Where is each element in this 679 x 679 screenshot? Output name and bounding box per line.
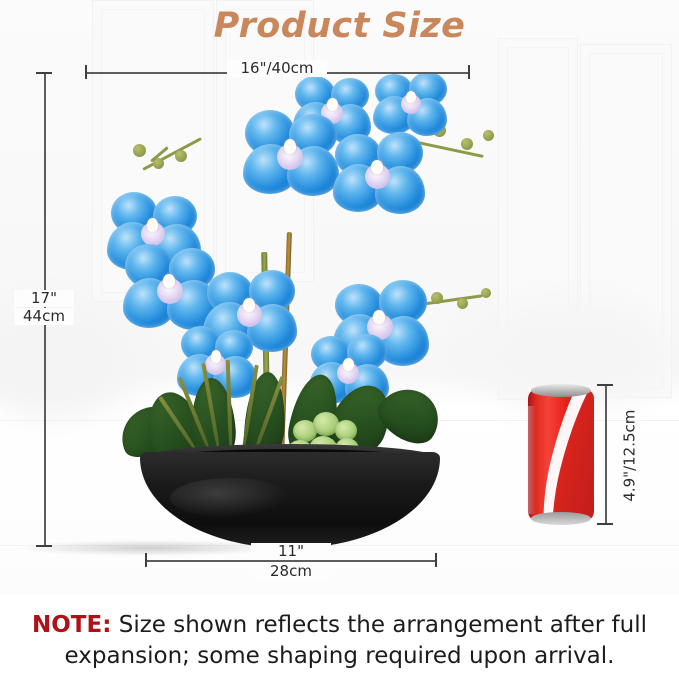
bud <box>461 138 473 150</box>
dimension-cap-left-top <box>36 72 52 74</box>
dimension-cap-left-bottom <box>36 545 52 547</box>
can-highlight <box>528 406 536 514</box>
dimension-line-can <box>605 385 607 525</box>
bud <box>175 150 187 162</box>
dimension-cap-can-bottom <box>597 523 613 525</box>
dimension-cap-top-left <box>85 65 87 79</box>
product-size-infographic: Product Size <box>0 0 679 679</box>
dimension-label-left-inches: 17" <box>14 290 74 307</box>
dimension-cap-top-right <box>468 65 470 79</box>
dimension-cap-bottom-left <box>145 553 147 567</box>
dimension-cap-can-top <box>597 384 613 386</box>
dimension-label-top: 16"/40cm <box>227 60 327 77</box>
note-prefix: NOTE: <box>32 612 111 638</box>
can-body <box>528 390 594 520</box>
bud <box>133 144 146 157</box>
dimension-label-bottom-cm: 28cm <box>251 563 331 580</box>
can-base <box>531 512 591 525</box>
note-body: Size shown reflects the arrangement afte… <box>65 612 648 668</box>
orchid-bloom <box>333 132 425 220</box>
can-red-edge <box>532 390 594 520</box>
dimension-label-bottom-inches: 11" <box>251 543 331 560</box>
orchid-bloom <box>243 110 339 202</box>
pot-highlight <box>170 478 290 518</box>
bud <box>481 288 491 298</box>
dimension-label-left-cm: 44cm <box>14 308 74 325</box>
page-title: Product Size <box>0 6 679 46</box>
bud <box>457 298 468 309</box>
note-text: NOTE: Size shown reflects the arrangemen… <box>20 610 659 671</box>
ceramic-pot <box>140 438 440 550</box>
bud <box>483 130 494 141</box>
dimension-cap-bottom-right <box>435 553 437 567</box>
bud <box>431 292 443 304</box>
dimension-label-can: 4.9"/12.5cm <box>621 386 638 526</box>
soda-can-reference <box>528 384 594 525</box>
bud-spray-left <box>142 137 202 171</box>
can-lid <box>531 384 591 397</box>
